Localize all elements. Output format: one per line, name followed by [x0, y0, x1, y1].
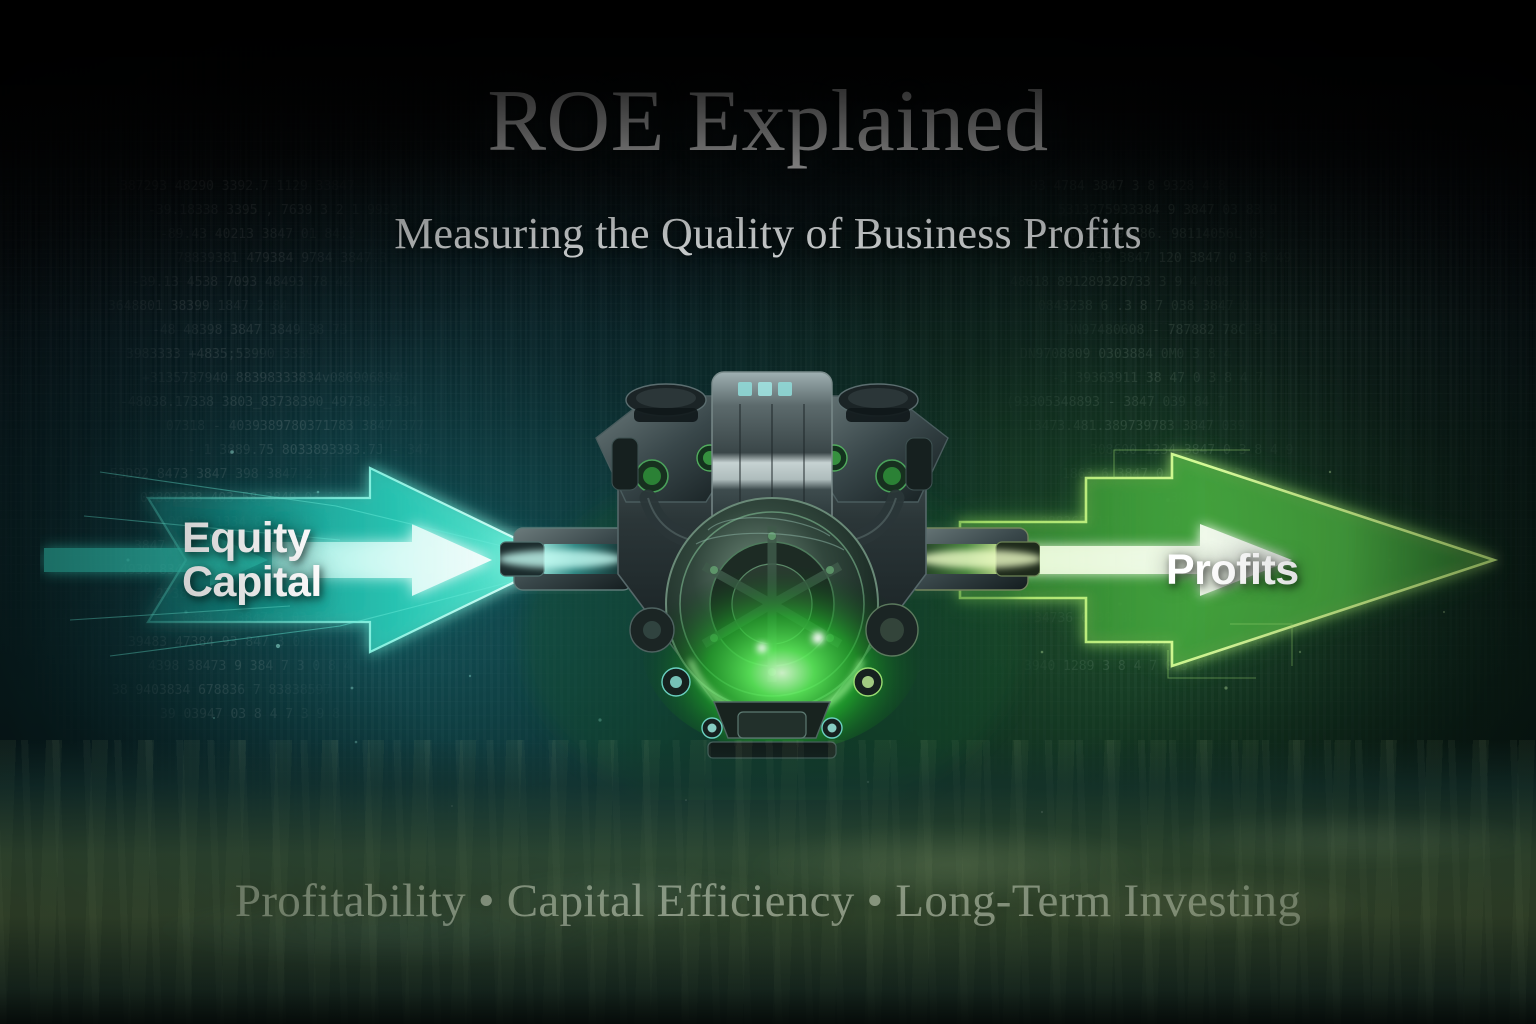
svg-text:308600 1234 3847 0 3 8 4 9: 308600 1234 3847 0 3 8 4 9	[1090, 443, 1294, 458]
svg-text:39 03947 03 8 4 7 3 9 8: 39 03947 03 8 4 7 3 9 8	[160, 707, 340, 722]
page-subtitle: Measuring the Quality of Business Profit…	[0, 212, 1536, 256]
profits-label: Profits	[1166, 548, 1299, 592]
svg-text:1863 6 3847 0 3 8 4 7 3 9: 1863 6 3847 0 3 8 4 7 3 9	[1062, 467, 1258, 482]
svg-text:3940 1289 3 8 4 7 0 3 9: 3940 1289 3 8 4 7 0 3 9	[1024, 659, 1204, 674]
engine-left-port	[500, 528, 632, 590]
svg-text:- 1 3889.75 8033893393.7J -: - 1 3889.75 8033893393.7J - 347	[188, 443, 431, 458]
svg-text:38 9403834 678836 7 83838597: 38 9403834 678836 7 83838597	[112, 683, 331, 698]
svg-text:-39.13 4538 7093 48493 78: -39.13 4538 7093 48493 78 42	[132, 275, 351, 290]
svg-text:3648801 38399 1847 2: 3648801 38399 1847 2 84	[108, 299, 288, 314]
footer-tagline: Profitability • Capital Efficiency • Lon…	[0, 878, 1536, 925]
svg-text:39483 47384 93 847 3 0 8: 39483 47384 93 847 3 0 8	[128, 635, 316, 650]
poster-canvas: 387293 48290 3392.7 1129 33847 -39.18338…	[0, 0, 1536, 1024]
svg-text:-48 48398 3847 3849 38 7: -48 48398 3847 3849 38 73	[152, 323, 348, 338]
svg-text:387293 48290 3392.7 1129: 387293 48290 3392.7 1129 33847	[120, 179, 355, 194]
svg-text:07318 - 4039389780371783 38: 07318 - 4039389780371783 3847 377	[166, 419, 424, 434]
svg-text:34736 6939 3847 03 8 4 7: 34736 6939 3847 03 8 4 7	[1034, 611, 1222, 626]
svg-text:4398 38473 9 384 7 3 0 8 4: 4398 38473 9 384 7 3 0 8 4	[148, 659, 352, 674]
svg-text:DN97480608 - 787882 78C 3 9: DN97480608 - 787882 78C 3 9	[1066, 323, 1277, 338]
svg-text:+3135737940 88398333834v086906: +3135737940 88398333834v0869068949	[142, 371, 408, 386]
equity-capital-label: Equity Capital	[182, 516, 322, 605]
engine-right-port	[908, 528, 1040, 590]
svg-text:-J 39363911 38 47 0 3 8 4 7: -J 39363911 38 47 0 3 8 4 7	[1052, 371, 1263, 386]
engine-icon	[500, 330, 1040, 800]
svg-text:IV999306 3847 0 38 4 7 0: IV999306 3847 0 38 4 7 0	[1100, 491, 1288, 506]
svg-text:0883657JJR8 3847 0 3 8 4: 0883657JJR8 3847 0 3 8 4	[1040, 515, 1228, 530]
svg-text:48618 891289328733 3 9 4 08: 48618 891289328733 3 9 4 088	[1010, 275, 1229, 290]
svg-text:93 4784 3847 3 8 9328 4 8: 93 4784 3847 3 8 9328 4 8	[1030, 179, 1226, 194]
svg-text:0843238 6 .3 8 7 038 3847 0: 0843238 6 .3 8 7 038 3847 0	[1038, 299, 1249, 314]
svg-text:-48038.17338 3803_83738390_49: -48038.17338 3803_83738390_49738.5.334	[120, 395, 418, 410]
svg-text:03807338 403 58 3849 03 38: 03807338 403 58 3849 03 3847	[140, 491, 359, 506]
svg-text:53D92 8473 3847 398 3847: 53D92 8473 3847 398 3847 2 7	[110, 467, 329, 482]
svg-text:3983333 +4835;53990 3339: 3983333 +4835;53990 3339	[126, 347, 314, 362]
svg-text:13473.481.389739783 3847 039: 13473.481.389739783 3847 039	[1026, 419, 1245, 434]
svg-text:0384 7 3847 3 03 847 38 04: 0384 7 3847 3 03 847 38 04	[182, 611, 386, 626]
svg-text:DN9708809 0303884 0M0 3 8 4: DN9708809 0303884 0M0 3 8 4	[1020, 347, 1231, 362]
svg-text:0943 3847 0 3 8 4 7 0: 0943 3847 0 3 8 4 7 0	[1098, 635, 1262, 650]
page-title: ROE Explained	[0, 78, 1536, 166]
